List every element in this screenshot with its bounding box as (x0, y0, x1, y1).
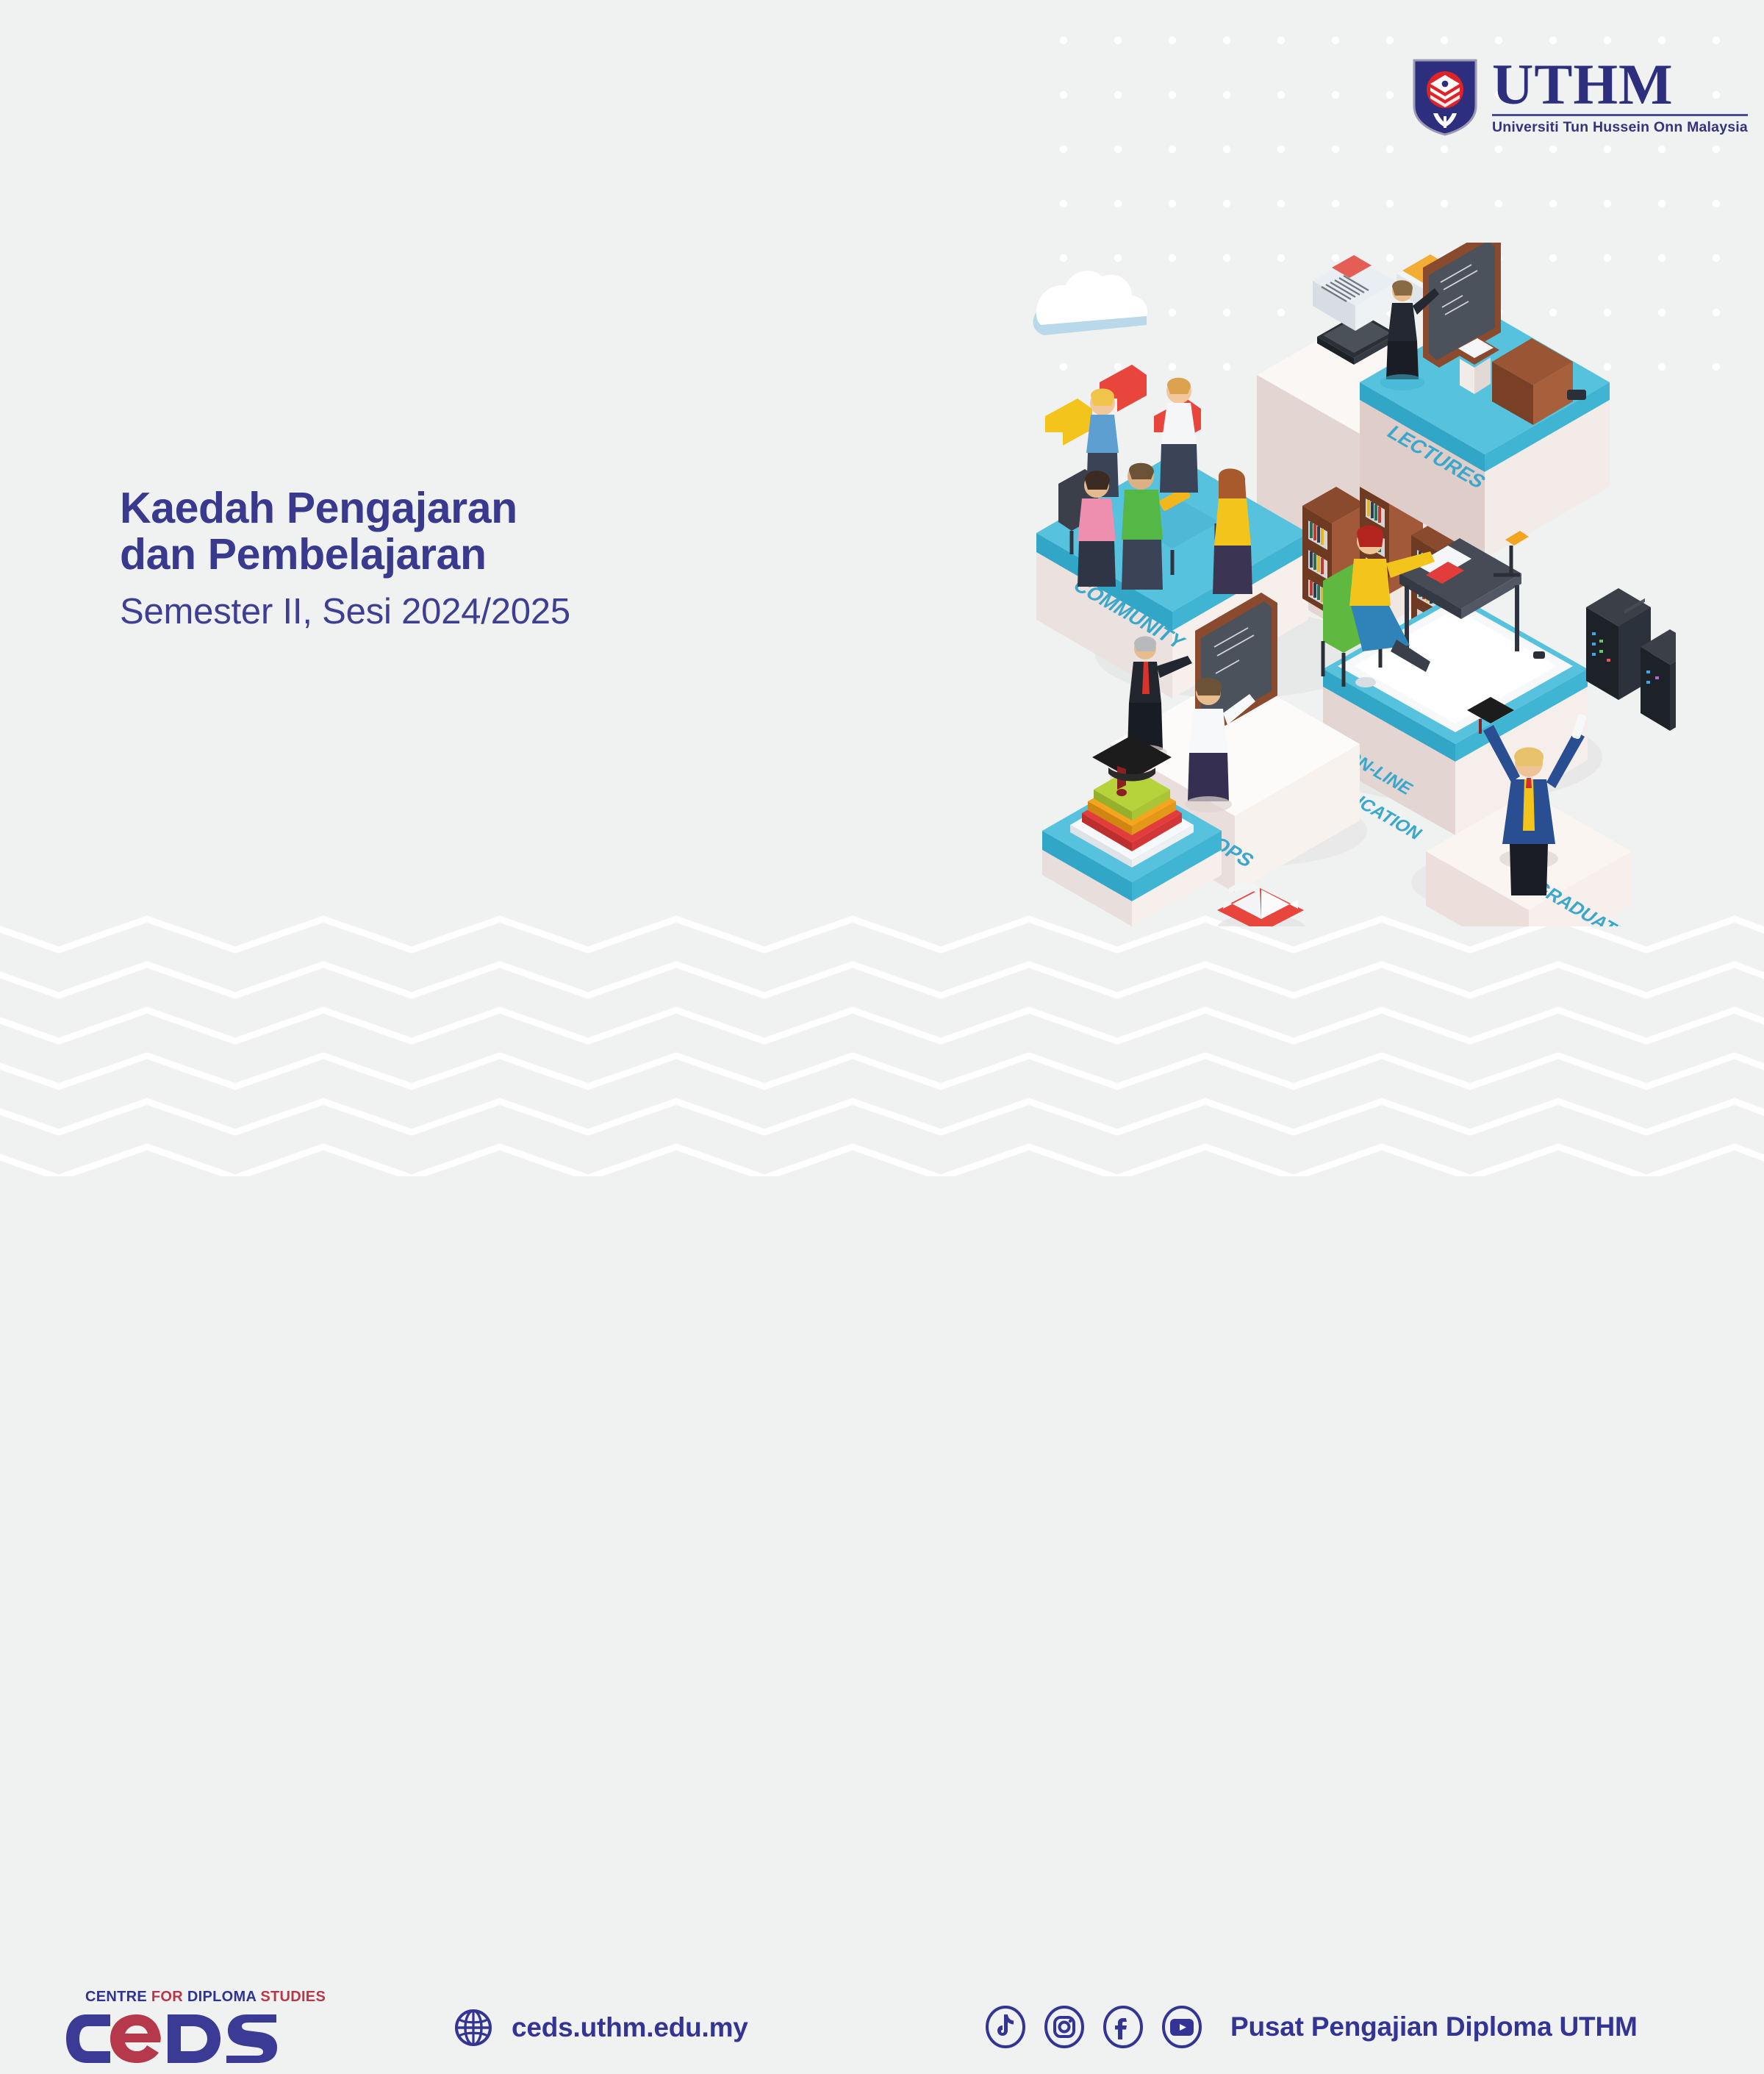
page-title: Kaedah Pengajaran dan Pembelajaran (120, 485, 570, 578)
website-url: ceds.uthm.edu.my (512, 2012, 748, 2043)
uthm-shield-crest-icon (1411, 57, 1479, 137)
page-title-block: Kaedah Pengajaran dan Pembelajaran Semes… (120, 485, 570, 632)
ceds-wordmark (65, 2007, 278, 2070)
uthm-tagline: Universiti Tun Hussein Onn Malaysia (1492, 119, 1748, 136)
social-handle: Pusat Pengajian Diploma UTHM (1230, 2012, 1638, 2042)
uthm-letters: UTHM (1492, 58, 1674, 111)
ceds-logo: CENTRE FOR DIPLOMA STUDIES (65, 1989, 278, 2074)
globe-icon (454, 2009, 492, 2047)
cloud-icon (1033, 271, 1147, 335)
open-book-icon (1217, 883, 1305, 926)
ceds-tagline-word-2: DIPLOMA (187, 1989, 257, 2005)
ceds-tagline-word-0: CENTRE (85, 1989, 147, 2005)
ceds-tagline-word-1: FOR (151, 1989, 183, 2005)
page-title-line2: dan Pembelajaran (120, 530, 487, 579)
website-link[interactable]: ceds.uthm.edu.my (454, 2009, 748, 2047)
illustration-svg: .lbl{font-family:"Liberation Sans",sans-… (1014, 243, 1676, 926)
footer: CENTRE FOR DIPLOMA STUDIES (0, 956, 1764, 1176)
tiktok-icon[interactable] (985, 2006, 1026, 2048)
social-links: Pusat Pengajian Diploma UTHM (985, 2006, 1638, 2048)
page-title-line1: Kaedah Pengajaran (120, 484, 517, 532)
ceds-tagline-word-3: STUDIES (260, 1989, 326, 2005)
isometric-education-illustration: .lbl{font-family:"Liberation Sans",sans-… (1014, 243, 1676, 926)
youtube-icon[interactable] (1161, 2006, 1202, 2048)
ceds-tagline: CENTRE FOR DIPLOMA STUDIES (85, 1989, 278, 2006)
facebook-icon[interactable] (1102, 2006, 1144, 2048)
page-subtitle: Semester II, Sesi 2024/2025 (120, 593, 570, 632)
instagram-icon[interactable] (1044, 2006, 1085, 2048)
server-rack-icon (1586, 588, 1676, 731)
uthm-logo: UTHM Universiti Tun Hussein Onn Malaysia (1411, 57, 1748, 137)
uthm-divider (1492, 114, 1748, 116)
slide-canvas: UTHM Universiti Tun Hussein Onn Malaysia… (0, 0, 1764, 1176)
